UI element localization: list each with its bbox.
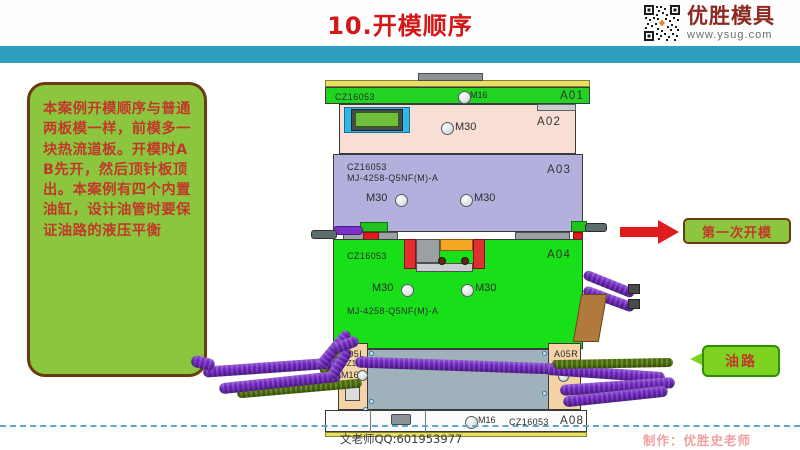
dowel-left-top (369, 351, 374, 356)
fitting-right-end-2 (628, 299, 640, 309)
dowel-left-bottom (369, 399, 374, 404)
callout-first-open-label: 第一次开模 (702, 222, 772, 241)
callout-first-open: 第一次开模 (683, 218, 791, 244)
plate-A05R-id: A05R (554, 349, 578, 359)
first-open-arrow (620, 219, 680, 245)
plate-A03-drawing: MJ-4258-Q5NF(M)-A (347, 173, 438, 183)
slide-root: 10.开模顺序 (0, 0, 800, 450)
footer-left-text: 文老师QQ:601953977 (340, 431, 462, 447)
plate-A08-bolt-label: M16 (478, 415, 496, 425)
fitting-right-a (585, 223, 607, 232)
note-text: 本案例开模顺序与普通两板模一样，前模多一块热流道板。开模时AB先开，然后顶针板顶… (43, 99, 192, 241)
plate-A04-part: CZ16053 (347, 251, 387, 261)
core-insert-orange (440, 239, 473, 251)
plate-A08-divider-1 (370, 410, 371, 432)
plate-A04-bolt-label-right: M30 (475, 282, 496, 294)
core-roller-left (438, 257, 446, 265)
bolt-m30-A04-left (401, 284, 414, 297)
plate-A03-bolt-label-right: M30 (474, 192, 495, 204)
fitting-right-end-1 (628, 284, 640, 294)
plate-A01-id: A01 (560, 90, 584, 102)
footer-divider (0, 425, 800, 427)
plate-A04-bolt-label-left: M30 (372, 282, 393, 294)
callout-oil-circuit-label: 油路 (725, 351, 757, 371)
core-insert-left-rail (404, 239, 416, 269)
dowel-right-bottom (542, 391, 547, 396)
plate-A04-drawing: MJ-4258-Q5NF(M)-A (347, 306, 438, 316)
bolt-m30-A03-left (395, 194, 408, 207)
core-insert-right-rail (473, 239, 485, 269)
fitting-left-b (311, 230, 337, 239)
plate-A01-bolt-label: M16 (470, 90, 488, 100)
plate-A03-bolt-label-left: M30 (366, 192, 387, 204)
plate-A02-bolt-label: M30 (455, 121, 476, 133)
plate-A02-id: A02 (537, 116, 561, 128)
bolt-m30-A03-right (460, 194, 473, 207)
cylinder-left-body (360, 222, 388, 232)
core-insert-gray (416, 239, 440, 263)
logo-website: www.ysug.com (687, 30, 775, 41)
logo-brand-name: 优胜模具 (687, 6, 775, 27)
bolt-m16-A08 (465, 416, 478, 429)
footer-right-text: 制作：优胜史老师 (643, 430, 751, 449)
slide-header: 10.开模顺序 (0, 0, 800, 46)
bolt-m30-A02 (441, 122, 454, 135)
header-accent-bar (0, 46, 800, 63)
note-box: 本案例开模顺序与普通两板模一样，前模多一块热流道板。开模时AB先开，然后顶针板顶… (27, 82, 207, 377)
sprue-bushing (391, 414, 411, 425)
fitting-left-a (333, 226, 363, 235)
plate-A02-shoulder-right (537, 104, 576, 111)
locating-ring (418, 73, 483, 81)
core-roller-right (461, 257, 469, 265)
plate-A03-id: A03 (547, 164, 571, 176)
callout-oil-circuit: 油路 (702, 345, 780, 377)
plate-A04-id: A04 (547, 249, 571, 261)
eye-bolt-A05L (345, 387, 360, 401)
hose-green-long-run (553, 358, 673, 369)
plate-A01-part: CZ16053 (335, 92, 375, 102)
dowel-right-top (542, 351, 547, 356)
plate-A08-divider-2 (425, 410, 426, 432)
connector-pins (355, 112, 399, 127)
qr-code-icon (642, 3, 682, 43)
plate-top-rail (325, 80, 590, 87)
bolt-m30-A04-right (461, 284, 474, 297)
brand-logo: 优胜模具 www.ysug.com (642, 2, 794, 44)
plate-A03-part: CZ16053 (347, 162, 387, 172)
